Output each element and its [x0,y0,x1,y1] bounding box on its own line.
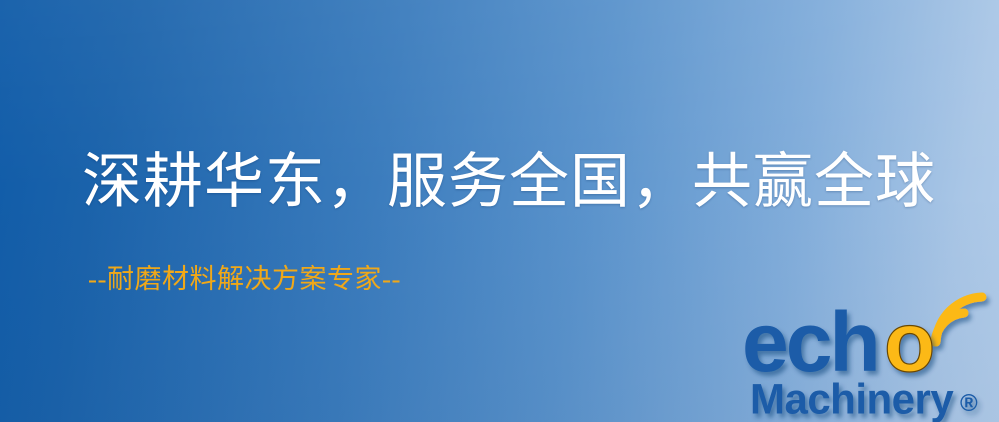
echo-signal-arcs [935,297,982,342]
echo-machinery-logo[interactable]: ech o Machinery ® [742,296,999,422]
hero-banner: 深耕华东，服务全国，共赢全球 --耐磨材料解决方案专家-- ech o Mach… [0,0,999,422]
logo-registered-icon: ® [960,390,978,417]
logo-tagline: Machinery [750,375,954,422]
banner-headline: 深耕华东，服务全国，共赢全球 [82,152,936,212]
banner-subheadline: --耐磨材料解决方案专家-- [88,266,401,293]
